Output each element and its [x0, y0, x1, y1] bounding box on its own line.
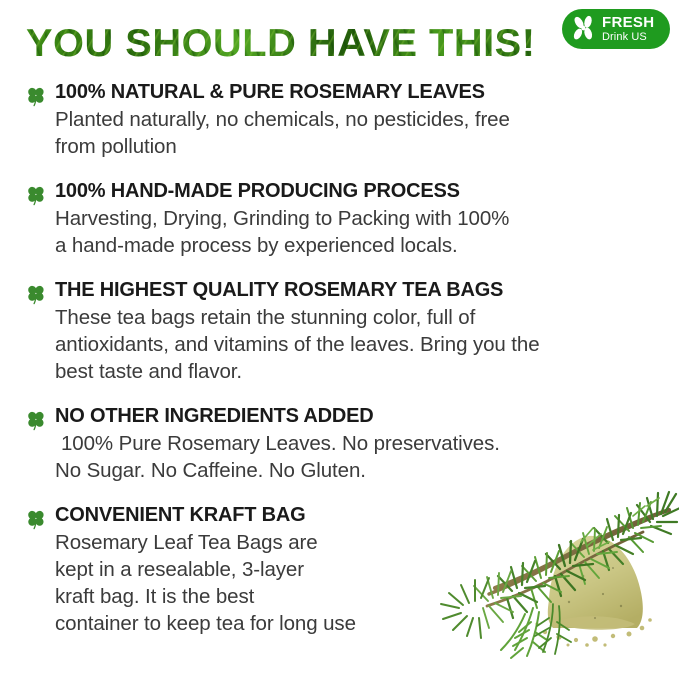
- feature-item-natural-pure: 100% NATURAL & PURE ROSEMARY LEAVES Plan…: [0, 80, 679, 160]
- feature-heading: 100% NATURAL & PURE ROSEMARY LEAVES: [55, 80, 679, 105]
- feature-body-line: These tea bags retain the stunning color…: [55, 304, 679, 331]
- feature-item-hand-made: 100% HAND-MADE PRODUCING PROCESS Harvest…: [0, 179, 679, 259]
- feature-item-highest-quality: THE HIGHEST QUALITY ROSEMARY TEA BAGS Th…: [0, 278, 679, 385]
- brand-name: FRESH: [602, 15, 654, 30]
- four-leaf-clover-icon: [24, 282, 48, 306]
- feature-body-line: best taste and flavor.: [55, 358, 679, 385]
- feature-body: Planted naturally, no chemicals, no pest…: [55, 106, 679, 160]
- four-leaf-clover-icon: [24, 183, 48, 207]
- leaf-cluster-icon: [567, 12, 601, 46]
- brand-text-block: FRESH Drink US: [602, 15, 654, 43]
- feature-heading: 100% HAND-MADE PRODUCING PROCESS: [55, 179, 679, 204]
- feature-heading: THE HIGHEST QUALITY ROSEMARY TEA BAGS: [55, 278, 679, 303]
- feature-body-line: Planted naturally, no chemicals, no pest…: [55, 106, 679, 133]
- feature-body-line: a hand-made process by experienced local…: [55, 232, 679, 259]
- feature-heading: NO OTHER INGREDIENTS ADDED: [55, 404, 679, 429]
- four-leaf-clover-icon: [24, 408, 48, 432]
- page-header: YOU SHOULD HAVE THIS! FRESH Drink US: [0, 0, 679, 78]
- rosemary-sprigs-and-powder-photo: [437, 472, 679, 668]
- feature-body-line: from pollution: [55, 133, 679, 160]
- page-title: YOU SHOULD HAVE THIS!: [26, 21, 535, 67]
- feature-body: These tea bags retain the stunning color…: [55, 304, 679, 385]
- brand-tagline: Drink US: [602, 32, 654, 43]
- feature-body-line: antioxidants, and vitamins of the leaves…: [55, 331, 679, 358]
- feature-body-line: 100% Pure Rosemary Leaves. No preservati…: [55, 430, 679, 457]
- feature-body-line: Harvesting, Drying, Grinding to Packing …: [55, 205, 679, 232]
- brand-logo: FRESH Drink US: [562, 9, 670, 49]
- four-leaf-clover-icon: [24, 507, 48, 531]
- feature-body: Harvesting, Drying, Grinding to Packing …: [55, 205, 679, 259]
- four-leaf-clover-icon: [24, 84, 48, 108]
